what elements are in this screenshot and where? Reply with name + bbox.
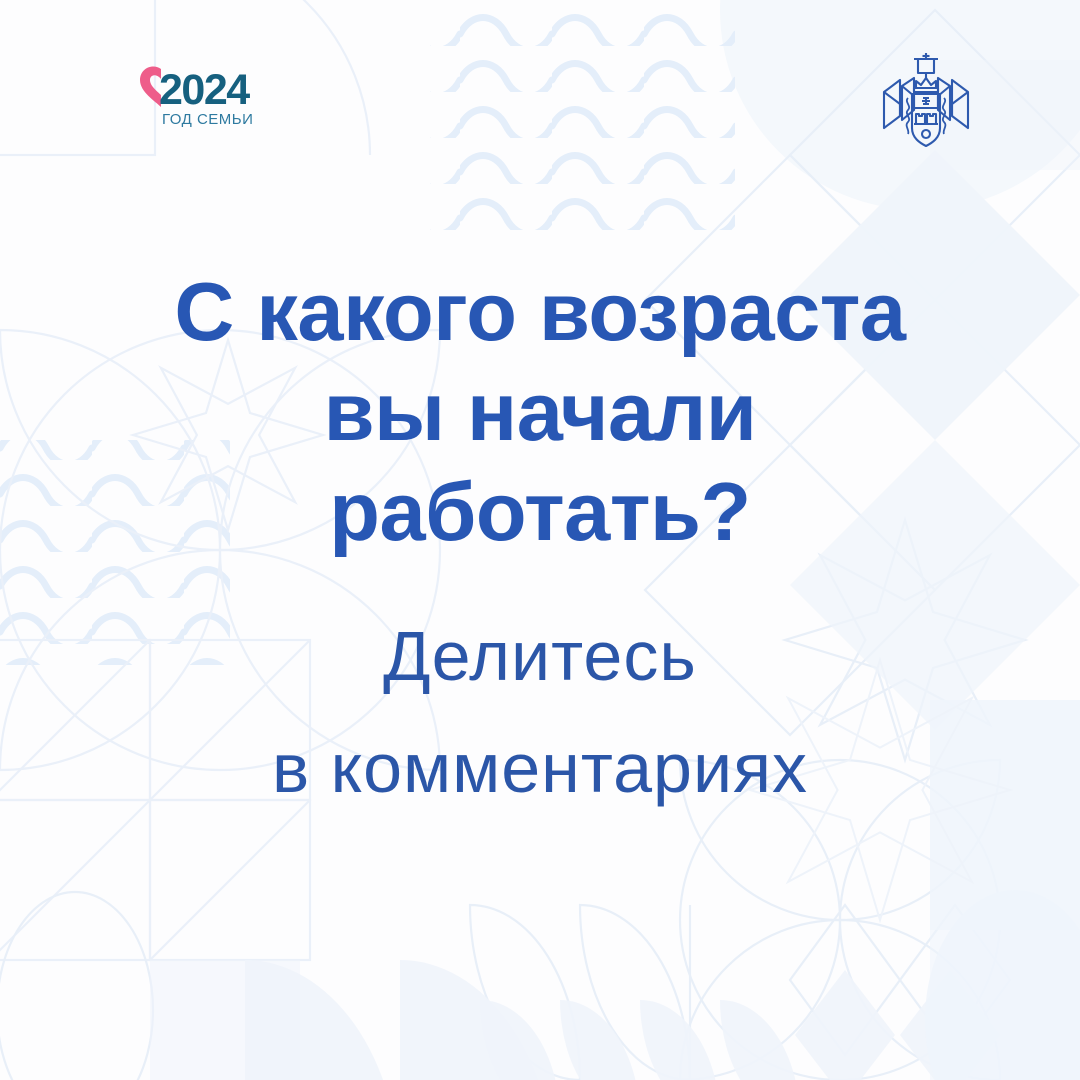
emblem-crown-icon bbox=[914, 78, 938, 92]
emblem-shield-icon bbox=[912, 94, 940, 146]
emblem-standard-icon bbox=[914, 53, 938, 78]
subtitle-line-2: в комментариях bbox=[0, 712, 1080, 824]
logo-caption: ГОД СЕМЬИ bbox=[162, 111, 253, 128]
krasnodar-krai-emblem bbox=[878, 50, 974, 156]
poster-canvas: 2024 ГОД СЕМЬИ bbox=[0, 0, 1080, 1080]
heart-icon bbox=[140, 66, 161, 107]
logo-year: 2024 bbox=[159, 66, 250, 114]
year-of-family-2024-logo: 2024 ГОД СЕМЬИ bbox=[133, 58, 253, 138]
headline-line-1: С какого возраста bbox=[0, 262, 1080, 362]
subtitle-line-1: Делитесь bbox=[0, 600, 1080, 712]
ornament-waves-top bbox=[430, 0, 735, 240]
headline-line-2: вы начали bbox=[0, 362, 1080, 462]
headline-block: С какого возраста вы начали работать? bbox=[0, 262, 1080, 562]
headline-line-3: работать? bbox=[0, 462, 1080, 562]
subtitle-block: Делитесь в комментариях bbox=[0, 600, 1080, 824]
ornament-solid-fill-group bbox=[150, 60, 1080, 1080]
